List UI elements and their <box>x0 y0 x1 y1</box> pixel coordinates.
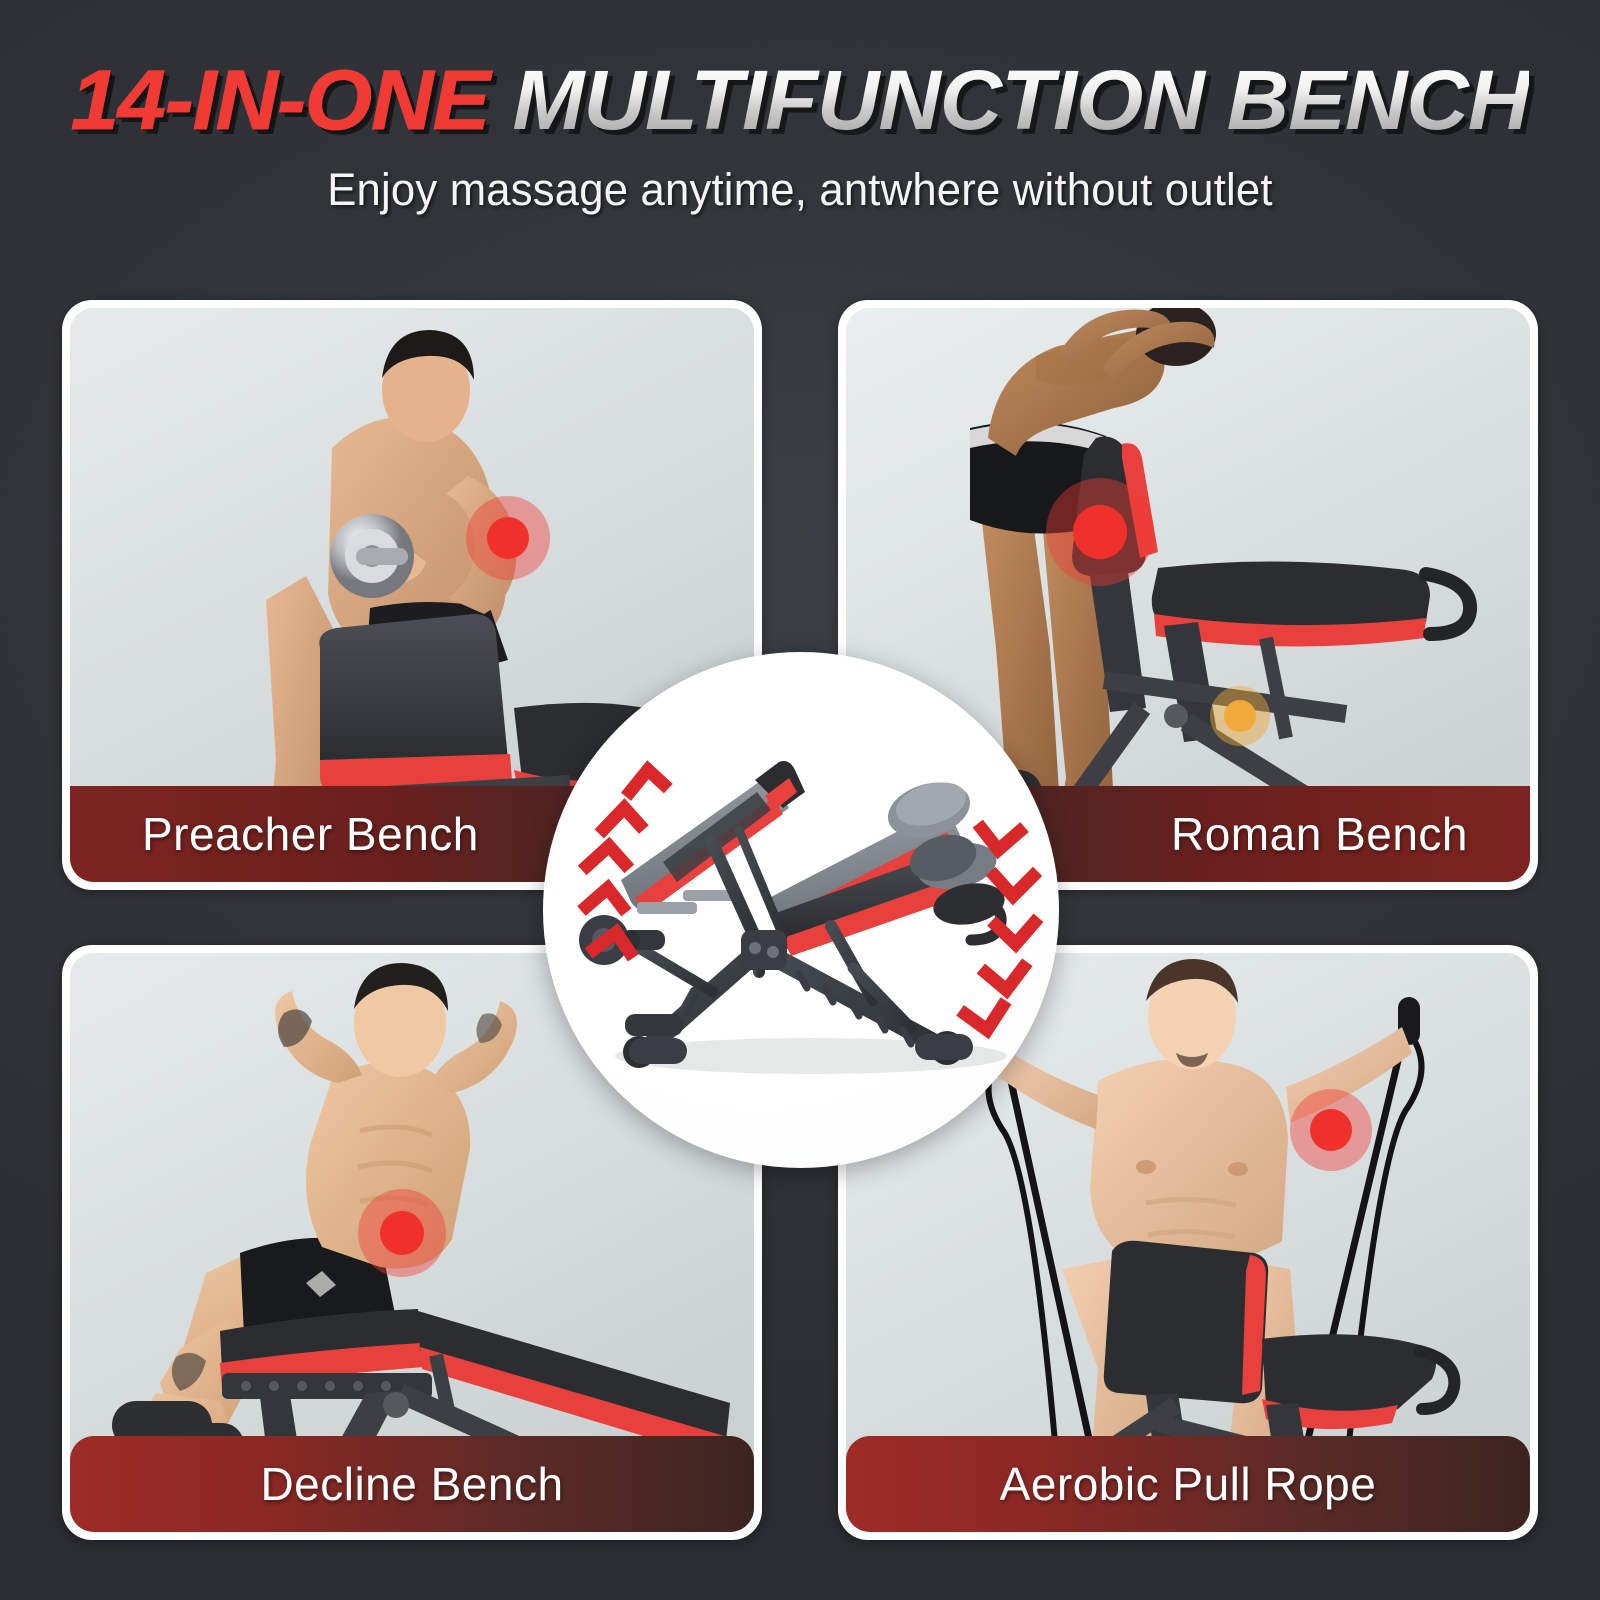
title-rest: MULTIFUNCTION BENCH <box>512 53 1529 147</box>
page-title: 14-IN-ONE MULTIFUNCTION BENCH <box>0 58 1600 142</box>
card-label-decline-bench: Decline Bench <box>260 1457 563 1511</box>
card-label-preacher-bench: Preacher Bench <box>142 807 479 861</box>
label-bar-aerobic-pull-rope: Aerobic Pull Rope <box>846 1436 1530 1532</box>
title-highlight: 14-IN-ONE <box>71 53 490 147</box>
card-label-roman-bench: Roman Bench <box>1171 807 1468 861</box>
page-header: 14-IN-ONE MULTIFUNCTION BENCH Enjoy mass… <box>0 0 1600 270</box>
label-bar-decline-bench: Decline Bench <box>70 1436 754 1532</box>
highlight-marker-abdominals <box>358 1189 446 1277</box>
highlight-marker-lower-back <box>1046 478 1154 586</box>
bench-flat-pad <box>769 773 1008 956</box>
adjustable-bench-illustration <box>543 652 1059 1168</box>
highlight-marker-bicep <box>466 496 550 580</box>
center-product-medallion[interactable] <box>543 652 1059 1168</box>
page-subtitle: Enjoy massage anytime, antwhere without … <box>24 164 1576 216</box>
highlight-marker-shoulder <box>1290 1089 1372 1171</box>
card-label-aerobic-pull-rope: Aerobic Pull Rope <box>1000 1457 1377 1511</box>
highlight-marker-bench-adjustment <box>1210 686 1270 746</box>
